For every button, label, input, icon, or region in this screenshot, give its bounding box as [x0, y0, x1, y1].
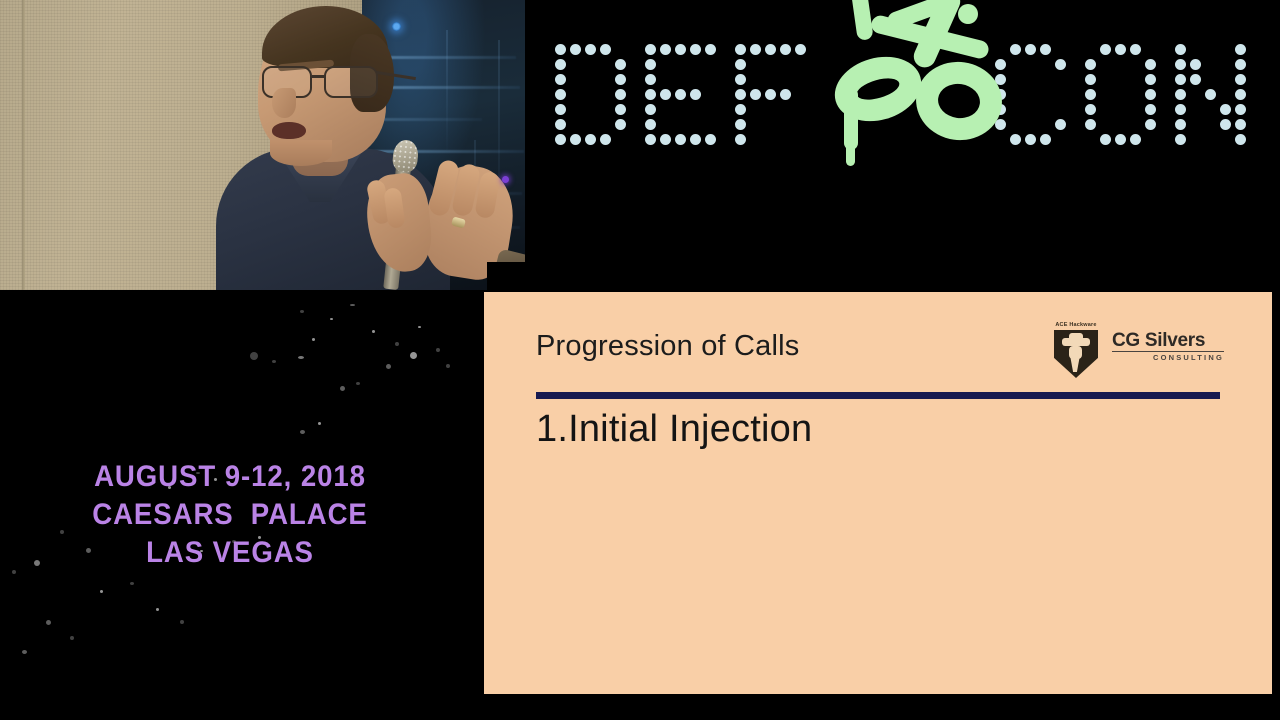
artifact-speck [312, 338, 315, 341]
defcon-logo-dot [1235, 59, 1246, 70]
defcon-logo-band [525, 0, 1280, 290]
defcon-logo-dot [1190, 59, 1201, 70]
defcon-logo-dot [675, 89, 686, 100]
defcon-logo-dot [690, 89, 701, 100]
artifact-speck [410, 352, 417, 359]
defcon-logo-dot [1145, 59, 1156, 70]
defcon-logo-dot [735, 104, 746, 115]
defcon-logo-dot [1220, 119, 1231, 130]
defcon-logo-dot [1235, 134, 1246, 145]
defcon-logo-dot [735, 119, 746, 130]
speaker-mouth [272, 122, 306, 139]
artifact-speck [156, 608, 159, 611]
artifact-speck [298, 356, 304, 359]
presentation-slide[interactable]: Progression of Calls 1.Initial Injection… [484, 292, 1272, 694]
defcon-logo-dot [735, 134, 746, 145]
artifact-speck [22, 650, 27, 654]
defcon-logo-dot [645, 104, 656, 115]
defcon-logo-dot [1130, 44, 1141, 55]
defcon-logo-dot [660, 89, 671, 100]
defcon-logo-dot [1085, 119, 1096, 130]
event-venue: CAESARS PALACE [18, 496, 441, 534]
defcon-logo-dot [1175, 59, 1186, 70]
defcon-logo-dot [645, 134, 656, 145]
shield-top-label: ACE Hackware [1052, 322, 1100, 328]
brand-name: CG Silvers [1112, 330, 1205, 352]
defcon-logo-dot [1175, 74, 1186, 85]
defcon-logo-dot [1205, 89, 1216, 100]
glasses-temple [376, 71, 416, 80]
defcon-logo-dot [615, 59, 626, 70]
defcon-logo-dot [1145, 74, 1156, 85]
event-details: AUGUST 9-12, 2018 CAESARS PALACE LAS VEG… [18, 458, 441, 572]
presentation-recording-stage: AUGUST 9-12, 2018 CAESARS PALACE LAS VEG… [0, 0, 1280, 720]
defcon-logo-dot [765, 89, 776, 100]
defcon-logo-dot [1085, 59, 1096, 70]
defcon-logo-dot [705, 44, 716, 55]
defcon-logo-dot [555, 89, 566, 100]
defcon-logo-dot [1175, 134, 1186, 145]
defcon-logo-dot [750, 89, 761, 100]
event-info-pane: AUGUST 9-12, 2018 CAESARS PALACE LAS VEG… [0, 290, 484, 720]
artifact-speck [395, 342, 399, 346]
brand-subtitle: CONSULTING [1114, 353, 1224, 362]
defcon-logo-dot [600, 134, 611, 145]
defcon-logo-dot [615, 74, 626, 85]
defcon-logo-dot [1175, 44, 1186, 55]
slide-divider-rule [536, 392, 1220, 399]
defcon-logo-dot [1115, 44, 1126, 55]
slide-body-text: 1.Initial Injection [536, 408, 812, 451]
defcon-logo-dot [1235, 44, 1246, 55]
defcon-logo-dot [1145, 119, 1156, 130]
artifact-speck [372, 330, 375, 333]
artifact-speck [436, 348, 440, 352]
defcon-logo-dot [645, 119, 656, 130]
event-city: LAS VEGAS [18, 534, 441, 572]
artifact-speck [46, 620, 51, 625]
defcon-logo-dot [570, 134, 581, 145]
defcon-logo-dot [1130, 134, 1141, 145]
defcon-logo-dot [1190, 74, 1201, 85]
defcon-logo-dot [735, 44, 746, 55]
defcon-logo-dot [795, 44, 806, 55]
defcon-logo-dot [1220, 104, 1231, 115]
defcon-logo-dot [1085, 74, 1096, 85]
glasses-bridge [312, 75, 326, 78]
defcon-logo-dot [1055, 59, 1066, 70]
defcon-logo-dot [675, 134, 686, 145]
defcon-logo-dot [705, 134, 716, 145]
artifact-speck [350, 304, 355, 306]
slide-title: Progression of Calls [536, 330, 800, 363]
artifact-speck [318, 422, 321, 425]
fedora-brim-icon [1062, 338, 1090, 346]
defcon-logo-dot [555, 74, 566, 85]
defcon-logo-dot [645, 89, 656, 100]
defcon-logo-dot [1145, 104, 1156, 115]
artifact-speck [12, 570, 16, 574]
artifact-speck [250, 352, 258, 360]
defcon-logo-dot [780, 89, 791, 100]
defcon-logo-dot [1175, 104, 1186, 115]
defcon-logo-dot [735, 74, 746, 85]
defcon-logo-dot [675, 44, 686, 55]
speaker-chin [270, 140, 332, 166]
defcon-logo-dot [645, 59, 656, 70]
defcon-logo-dot [555, 104, 566, 115]
defcon-logo-dot [600, 44, 611, 55]
artifact-speck [418, 326, 421, 328]
defcon-logo-dot [555, 44, 566, 55]
defcon-logo-dot [690, 44, 701, 55]
defcon-logo-dot [1085, 89, 1096, 100]
defcon-logo-dot [765, 44, 776, 55]
defcon-logo-dot [570, 44, 581, 55]
defcon-logo-dot [1040, 44, 1051, 55]
defcon-logo-dot [555, 134, 566, 145]
defcon-logo-dot [1100, 44, 1111, 55]
defcon-logo-dot [555, 119, 566, 130]
defcon-logo-dot [750, 44, 761, 55]
defcon-logo-dot [585, 44, 596, 55]
defcon-logo-dot [1040, 134, 1051, 145]
defcon-logo-dot [585, 134, 596, 145]
defcon-logo-dot [645, 74, 656, 85]
artifact-speck [330, 318, 333, 320]
artifact-speck [180, 620, 184, 624]
speaker-figure [200, 0, 450, 290]
defcon-logo-dot [690, 134, 701, 145]
artifact-speck [130, 582, 134, 585]
defcon-logo-dot [1235, 89, 1246, 100]
defcon-logo-dot [615, 119, 626, 130]
defcon-logo-dot [1235, 104, 1246, 115]
defcon-logo-dot [1235, 74, 1246, 85]
artifact-speck [100, 590, 103, 593]
artifact-speck [300, 430, 305, 434]
defcon-logo-dot [780, 44, 791, 55]
defcon-logo-dot [1085, 104, 1096, 115]
artifact-speck [272, 360, 276, 363]
defcon-logo-dot [555, 59, 566, 70]
defcon-logo-dot [1145, 89, 1156, 100]
defcon-logo-dot [1100, 134, 1111, 145]
defcon-logo-dot [735, 89, 746, 100]
defcon-logo-dot [645, 44, 656, 55]
defcon-logo-dot [735, 59, 746, 70]
artifact-speck [446, 364, 450, 368]
defcon-26-graffiti-icon [840, 0, 1040, 170]
artifact-speck [340, 386, 345, 391]
ace-hackware-shield-icon: ACE Hackware [1052, 322, 1100, 378]
artifact-speck [386, 364, 391, 369]
artifact-speck [70, 636, 74, 640]
defcon-logo-dot [1175, 119, 1186, 130]
defcon-logo-dot [615, 89, 626, 100]
artifact-speck [300, 310, 304, 313]
defcon-logo-dot [1175, 89, 1186, 100]
defcon-logo-dot [1115, 134, 1126, 145]
artifact-speck [356, 382, 360, 385]
wall-panel-seam [22, 0, 25, 290]
speaker-video-pane[interactable] [0, 0, 525, 290]
defcon-logo-dot [660, 44, 671, 55]
glasses-right-lens [324, 66, 378, 98]
defcon-logo-dot [1235, 119, 1246, 130]
silhouette-face [1069, 346, 1082, 359]
defcon-logo-dot [660, 134, 671, 145]
event-dates: AUGUST 9-12, 2018 [18, 458, 441, 496]
lapel-indicator-light [502, 176, 509, 183]
sponsor-brandmark: ACE Hackware CG Silvers CONSULTING [1052, 322, 1224, 378]
defcon-logo-dot [615, 104, 626, 115]
speaker-nose [272, 88, 296, 118]
video-corner-mask [487, 262, 525, 290]
defcon-logo-dot [1055, 119, 1066, 130]
